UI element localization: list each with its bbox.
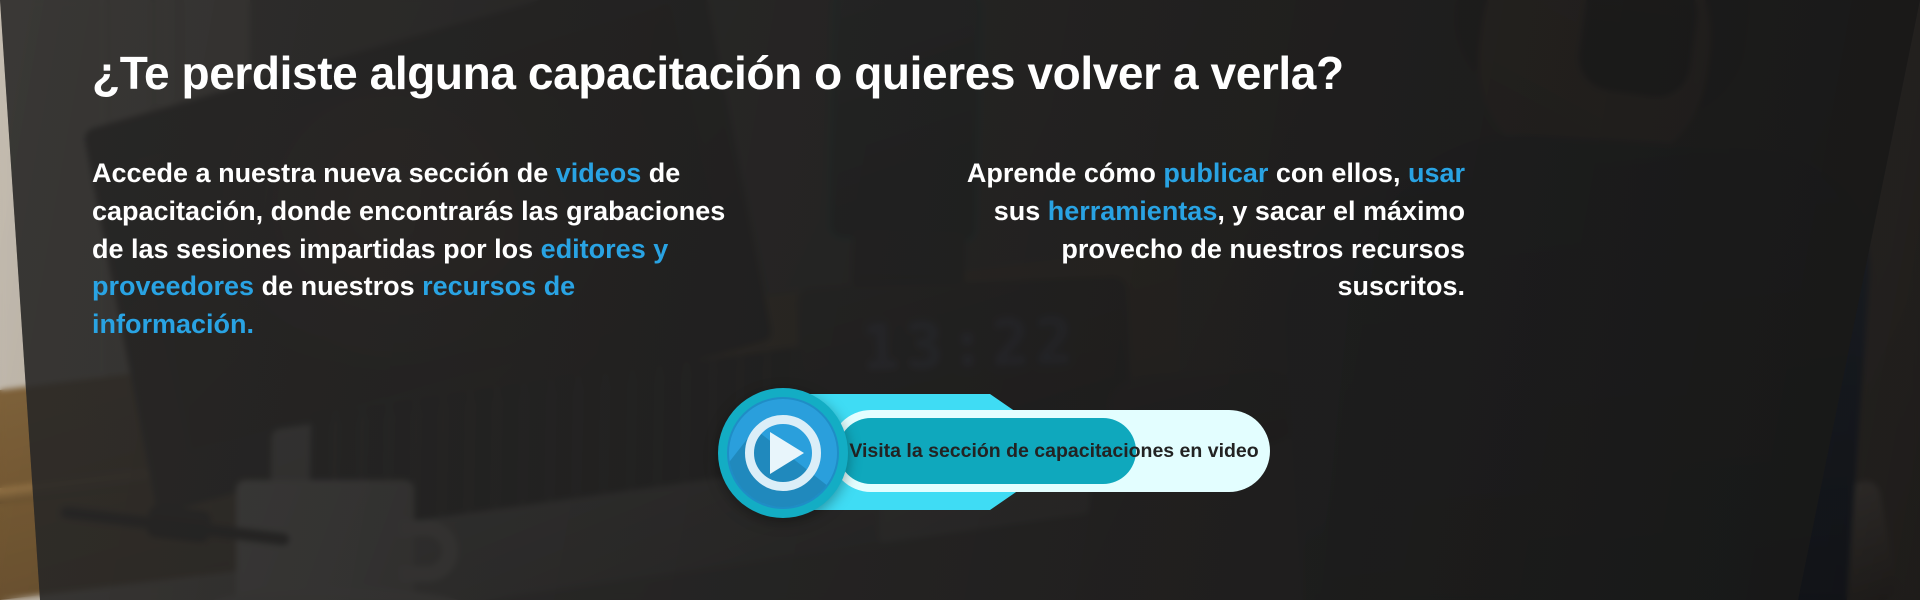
text-segment-2: con ellos, — [1268, 158, 1408, 188]
right-description-text: Aprende cómo publicar con ellos, usar su… — [965, 155, 1465, 306]
play-icon-triangle — [770, 432, 804, 474]
text-segment-0: Aprende cómo — [967, 158, 1164, 188]
text-segment-4: de nuestros — [254, 271, 422, 301]
left-description-text: Accede a nuestra nueva sección de videos… — [92, 155, 732, 344]
text-segment-3: usar — [1408, 158, 1465, 188]
text-segment-1: publicar — [1163, 158, 1268, 188]
text-segment-5: herramientas — [1048, 196, 1218, 226]
visit-video-section-button[interactable]: Visita la sección de capacitaciones en v… — [718, 388, 1278, 513]
play-circle-icon[interactable] — [718, 388, 848, 518]
cta-button-label: Visita la sección de capacitaciones en v… — [848, 410, 1260, 492]
text-segment-4: sus — [994, 196, 1048, 226]
text-segment-0: Accede a nuestra nueva sección de — [92, 158, 556, 188]
banner-content: ¿Te perdiste alguna capacitación o quier… — [0, 0, 1920, 600]
promo-banner: 13:22 ¿Te perdiste alguna capacitación o… — [0, 0, 1920, 600]
text-segment-1: videos — [556, 158, 642, 188]
page-title: ¿Te perdiste alguna capacitación o quier… — [92, 46, 1344, 100]
